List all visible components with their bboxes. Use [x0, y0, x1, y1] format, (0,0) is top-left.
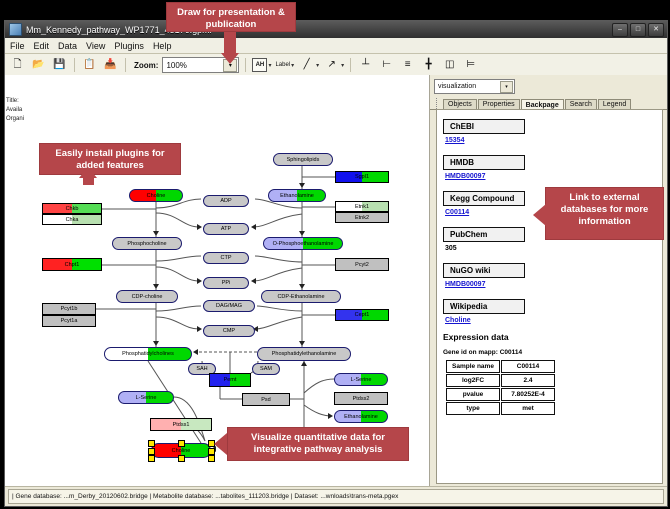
shape-tool-icon: AH: [252, 58, 267, 72]
backpage-content: ChEBI15354HMDBHMDB00097Kegg CompoundC001…: [436, 109, 663, 484]
zoom-value: 100%: [166, 61, 186, 70]
pathway-gene-label: Chkb: [66, 206, 79, 212]
copy-icon[interactable]: 📋: [81, 57, 98, 74]
pathway-node-label: CMP: [223, 328, 235, 334]
align-center-vertical-icon[interactable]: ┴: [357, 57, 374, 74]
expression-table: Sample nameC00114log2FC2.4pvalue7.80252E…: [445, 359, 556, 416]
pathway-gene-ptdss2[interactable]: Ptdss2: [334, 392, 388, 405]
chevron-down-icon[interactable]: ▾: [500, 81, 513, 93]
visualization-value: visualization: [438, 83, 476, 90]
arrow-icon: [197, 224, 202, 230]
menu-item-edit[interactable]: Edit: [34, 41, 50, 51]
pathway-node-label: SAM: [260, 366, 272, 372]
table-cell-key: pvalue: [446, 388, 500, 401]
arrow-icon: [153, 231, 159, 236]
open-folder-icon[interactable]: 📂: [30, 57, 47, 74]
callout-external-links: Link to external databases for more info…: [545, 187, 664, 240]
pathway-gene-chkb[interactable]: Chkb: [42, 203, 102, 214]
callout-draw-pointer: [221, 53, 239, 64]
pathway-node-label: Phosphatidylethanolamine: [272, 351, 337, 357]
pathway-node-label: SAH: [196, 366, 207, 372]
pathway-gene-pcyt1b[interactable]: Pcyt1b: [42, 303, 96, 315]
database-link-nugo-wiki[interactable]: HMDB00097: [445, 281, 662, 288]
table-row: typemet: [446, 402, 555, 415]
selection-handle[interactable]: [178, 440, 185, 447]
selection-handle[interactable]: [178, 455, 185, 462]
database-header-chebi: ChEBI: [443, 119, 525, 134]
pathway-node-label: Phosphocholine: [127, 241, 166, 247]
callout-plugins-pointer: [79, 167, 97, 178]
toolbar-separator: [350, 58, 351, 72]
database-link-wikipedia[interactable]: Choline: [445, 317, 662, 324]
pathway-node-label: Choline: [147, 193, 166, 199]
pathway-gene-label: Psd: [261, 397, 270, 403]
main-body: Title: Availa Organi: [5, 75, 667, 486]
table-cell-value: C00114: [501, 360, 555, 373]
pathway-node-label: ADP: [220, 198, 231, 204]
pathway-node-cdp-choline[interactable]: CDP-choline: [116, 290, 178, 303]
align-group-icon[interactable]: ⊨: [462, 57, 479, 74]
save-disk-icon[interactable]: 💾: [51, 57, 68, 74]
pathway-node-label: Sphingolipids: [287, 157, 320, 163]
arrow-icon: [251, 278, 256, 284]
pathway-node-label: DAG/MAG: [216, 303, 242, 309]
table-cell-key: Sample name: [446, 360, 500, 373]
table-row: pvalue7.80252E-4: [446, 388, 555, 401]
database-header-nugo-wiki: NuGO wiki: [443, 263, 525, 278]
pathway-node-ethanolamine-top[interactable]: Ethanolamine: [268, 189, 326, 202]
close-button[interactable]: ✕: [648, 23, 664, 37]
pathway-gene-label: Pemt: [224, 377, 237, 383]
pathway-gene-label: Pcyt1b: [61, 306, 78, 312]
connector-tool-icon: ↗: [323, 57, 340, 74]
arrow-icon: [197, 278, 202, 284]
pathway-gene-cept1[interactable]: Cept1: [335, 309, 389, 321]
table-cell-value: 2.4: [501, 374, 555, 387]
pathway-node-o-phosphoethanolamine[interactable]: O-Phosphoethanolamine: [263, 237, 343, 250]
pathway-gene-label: Ptdss1: [173, 422, 190, 428]
toolbar-separator: [74, 58, 75, 72]
callout-visualize: Visualize quantitative data for integrat…: [227, 427, 409, 461]
pathway-node-label: Ethanolamine: [280, 193, 314, 199]
pathway-node-ctp[interactable]: CTP: [203, 252, 249, 264]
arrow-icon: [299, 341, 305, 346]
pathway-gene-label: Chpt1: [65, 262, 80, 268]
callout-external-pointer: [533, 204, 546, 226]
arrow-icon: [301, 361, 307, 366]
pathway-gene-chka[interactable]: Chka: [42, 214, 102, 225]
arrow-icon: [251, 224, 256, 230]
database-header-pubchem: PubChem: [443, 227, 525, 242]
pathway-node-label: CDP-Ethanolamine: [277, 294, 324, 300]
table-row: Sample nameC00114: [446, 360, 555, 373]
arrow-icon: [299, 183, 305, 188]
screenshot-root: Mm_Kennedy_pathway_WP1771_45176.gpml – □…: [0, 0, 670, 509]
database-value-pubchem: 305: [445, 245, 662, 252]
pathway-node-l-serine-left[interactable]: L-Serine: [118, 391, 174, 404]
callout-visualize-pointer: [214, 433, 227, 455]
status-bar: | Gene database: ...m_Derby_20120602.bri…: [5, 486, 667, 506]
pathway-node-label: L-Serine: [136, 395, 157, 401]
database-link-hmdb[interactable]: HMDB00097: [445, 173, 662, 180]
pathway-node-label: L-Serine: [351, 377, 372, 383]
app-icon: [9, 23, 22, 36]
arrow-icon: [153, 341, 159, 346]
pathway-node-phosphocholine[interactable]: Phosphocholine: [112, 237, 182, 250]
selection-handle[interactable]: [148, 455, 155, 462]
pathway-node-label: CTP: [221, 255, 232, 261]
align-left-icon[interactable]: ⊢: [378, 57, 395, 74]
visualization-combo[interactable]: visualization ▾: [434, 79, 515, 94]
database-link-chebi[interactable]: 15354: [445, 137, 662, 144]
visualization-row: visualization ▾: [430, 75, 667, 95]
tab-properties[interactable]: Properties: [478, 99, 520, 109]
selection-handle[interactable]: [148, 440, 155, 447]
pathway-gene-etnk2[interactable]: Etnk2: [335, 212, 389, 223]
align-distribute-icon[interactable]: ≡: [399, 57, 416, 74]
menu-item-file[interactable]: File: [10, 41, 25, 51]
arrow-icon: [153, 284, 159, 289]
arrow-icon: [299, 284, 305, 289]
tab-grip-handle[interactable]: [436, 98, 440, 109]
pathway-gene-sgpl1[interactable]: Sgpl1: [335, 171, 389, 183]
pathway-node-ppi[interactable]: PPi: [203, 277, 249, 289]
pathway-node-choline[interactable]: Choline: [129, 189, 183, 202]
pathway-node-l-serine-right[interactable]: L-Serine: [334, 373, 388, 386]
pathway-gene-label: Sgpl1: [355, 174, 369, 180]
arrow-icon: [193, 349, 198, 355]
gene-id-line: Gene id on mapp: C00114: [443, 349, 662, 356]
label-tool-text: Label: [275, 62, 290, 68]
selection-handle[interactable]: [148, 448, 155, 455]
callout-draw: Draw for presentation & publication: [166, 2, 296, 32]
tab-search[interactable]: Search: [565, 99, 597, 109]
line-tool-dropdown[interactable]: ╱ ▾: [298, 57, 319, 74]
pathway-node-ethanolamine-bottom[interactable]: Ethanolamine: [334, 410, 388, 423]
table-cell-key: log2FC: [446, 374, 500, 387]
pathway-node-label: O-Phosphoethanolamine: [273, 241, 334, 247]
menu-item-view[interactable]: View: [86, 41, 105, 51]
arrow-icon: [299, 231, 305, 236]
pathway-gene-label: Cept1: [355, 312, 370, 318]
pathway-node-dagmag[interactable]: DAG/MAG: [203, 300, 255, 312]
chevron-down-icon[interactable]: ▾: [316, 62, 319, 69]
database-header-hmdb: HMDB: [443, 155, 525, 170]
menu-bar: File Edit Data View Plugins Help: [5, 38, 667, 54]
pathway-gene-pcyt1a[interactable]: Pcyt1a: [42, 315, 96, 327]
pathway-node-label: Ethanolamine: [344, 414, 378, 420]
new-file-icon[interactable]: 🗋: [9, 57, 26, 74]
pathway-node-label: ATP: [221, 226, 231, 232]
tool-bar: 🗋 📂 💾 📋 📥 Zoom: 100% ▾ AH ▾ Label ▾ ╱: [5, 54, 667, 77]
tab-legend[interactable]: Legend: [598, 99, 631, 109]
pathway-node-phosphatidylethanolamine[interactable]: Phosphatidylethanolamine: [257, 347, 351, 361]
table-row: log2FC2.4: [446, 374, 555, 387]
pathway-node-cmp[interactable]: CMP: [203, 325, 255, 337]
minimize-button[interactable]: –: [612, 23, 628, 37]
pathway-gene-label: Etnk1: [355, 204, 369, 210]
table-cell-key: type: [446, 402, 500, 415]
toolbar-separator: [125, 58, 126, 72]
application-window: Mm_Kennedy_pathway_WP1771_45176.gpml – □…: [4, 20, 668, 507]
expression-data-heading: Expression data: [443, 332, 662, 342]
align-size-icon[interactable]: ╋: [420, 57, 437, 74]
zoom-label: Zoom:: [134, 61, 158, 70]
status-text: | Gene database: ...m_Derby_20120602.bri…: [8, 489, 664, 504]
pathway-node-cdp-ethanolamine[interactable]: CDP-Ethanolamine: [261, 290, 341, 303]
chevron-down-icon[interactable]: ▾: [341, 62, 344, 69]
arrow-icon: [328, 413, 333, 419]
pathway-gene-pcyt2[interactable]: Pcyt2: [335, 258, 389, 271]
pathway-node-label: CDP-choline: [132, 294, 163, 300]
pathway-gene-label: Ptdss2: [353, 396, 370, 402]
menu-item-help[interactable]: Help: [153, 41, 172, 51]
table-cell-value: 7.80252E-4: [501, 388, 555, 401]
align-stack-icon[interactable]: ◫: [441, 57, 458, 74]
pathway-gene-label: Etnk2: [355, 215, 369, 221]
pathway-canvas-pane[interactable]: Title: Availa Organi: [5, 75, 430, 486]
pathway-gene-etnk1[interactable]: Etnk1: [335, 201, 389, 212]
line-tool-icon: ╱: [298, 57, 315, 74]
pathway-diagram[interactable]: SphingolipidsCholineEthanolamineADPATPPh…: [5, 75, 429, 486]
pathway-node-label: Phosphatidylcholines: [122, 351, 174, 357]
pathway-node-label: Choline: [172, 448, 191, 454]
tab-objects[interactable]: Objects: [443, 99, 477, 109]
arrow-icon: [197, 326, 202, 332]
side-panel: visualization ▾ Objects Properties Backp…: [430, 75, 667, 486]
pathway-node-phosphatidylcholines[interactable]: Phosphatidylcholines: [104, 347, 192, 361]
pathway-gene-chpt1[interactable]: Chpt1: [42, 258, 102, 271]
pathway-node-atp[interactable]: ATP: [203, 223, 249, 235]
database-header-kegg-compound: Kegg Compound: [443, 191, 525, 206]
pathway-node-sphingolipids[interactable]: Sphingolipids: [273, 153, 333, 166]
pathway-node-sam[interactable]: SAM: [252, 363, 280, 375]
pathway-gene-label: Pcyt1a: [61, 318, 78, 324]
pathway-gene-label: Pcyt2: [355, 262, 369, 268]
shape-tool-dropdown[interactable]: AH ▾: [252, 58, 271, 72]
paste-icon[interactable]: 📥: [102, 57, 119, 74]
menu-item-data[interactable]: Data: [58, 41, 77, 51]
callout-plugins: Easily install plugins for added feature…: [39, 143, 181, 175]
title-bar: Mm_Kennedy_pathway_WP1771_45176.gpml – □…: [5, 21, 667, 38]
selection-handle[interactable]: [208, 455, 215, 462]
pathway-gene-ptdss1[interactable]: Ptdss1: [150, 418, 212, 431]
maximize-button[interactable]: □: [630, 23, 646, 37]
menu-item-plugins[interactable]: Plugins: [114, 41, 144, 51]
database-header-wikipedia: Wikipedia: [443, 299, 525, 314]
chevron-down-icon[interactable]: ▾: [268, 62, 271, 69]
side-panel-tabs: Objects Properties Backpage Search Legen…: [430, 95, 667, 110]
connector-tool-dropdown[interactable]: ↗ ▾: [323, 57, 344, 74]
table-cell-value: met: [501, 402, 555, 415]
window-controls: – □ ✕: [612, 23, 667, 37]
label-tool-dropdown[interactable]: Label ▾: [275, 62, 294, 69]
pathway-node-adp[interactable]: ADP: [203, 195, 249, 207]
pathway-gene-psd[interactable]: Psd: [242, 393, 290, 406]
toolbar-separator: [245, 58, 246, 72]
pathway-gene-label: Chka: [66, 217, 79, 223]
pathway-gene-pemt[interactable]: Pemt: [209, 373, 251, 387]
pathway-node-label: PPi: [222, 280, 231, 286]
chevron-down-icon[interactable]: ▾: [291, 62, 294, 69]
